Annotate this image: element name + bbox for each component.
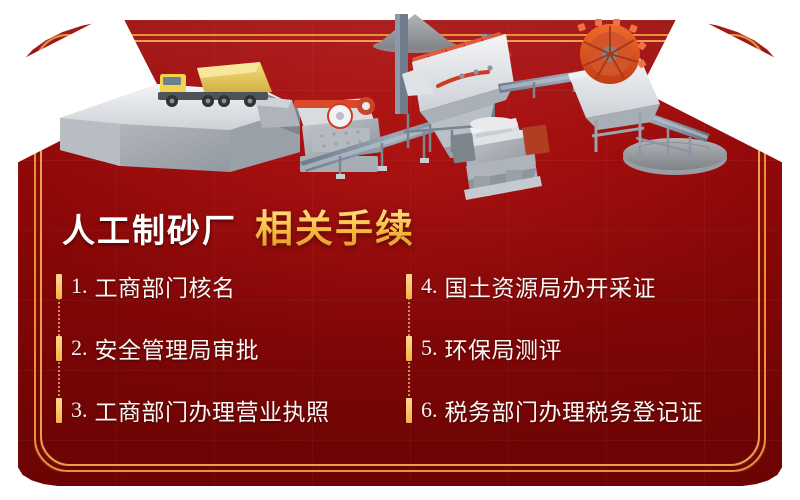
list-item-label: 国土资源局办开采证 [445,269,657,303]
procedure-column-left: 1. 工商部门核名 2. 安全管理局审批 3. 工商部门办理营业执照 [56,272,406,442]
list-item[interactable]: 1. 工商部门核名 [56,272,406,300]
procedure-list: 1. 工商部门核名 2. 安全管理局审批 3. 工商部门办理营业执照 4. 国土… [56,272,756,442]
accent-bar-icon [406,336,412,361]
accent-bar-icon [406,398,412,423]
list-item[interactable]: 2. 安全管理局审批 [56,334,406,362]
accent-bar-icon [56,398,62,423]
title-white-part: 人工制砂厂 [62,204,237,252]
list-item[interactable]: 3. 工商部门办理营业执照 [56,396,406,424]
procedure-column-right: 4. 国土资源局办开采证 5. 环保局测评 6. 税务部门办理税务登记证 [406,272,756,442]
list-item-label: 工商部门核名 [95,269,236,303]
accent-bar-icon [56,336,62,361]
list-item-label: 税务部门办理税务登记证 [445,393,704,427]
title-gold-part: 相关手续 [255,198,415,253]
list-item-label: 工商部门办理营业执照 [95,393,330,427]
list-item[interactable]: 5. 环保局测评 [406,334,756,362]
poster-title: 人工制砂厂 相关手续 [62,198,415,253]
list-item-label: 环保局测评 [445,331,563,365]
list-item-number: 1. [71,273,88,299]
poster-root: 人工制砂厂 相关手续 1. 工商部门核名 2. 安全管理局审批 3. 工商部门办… [0,0,800,500]
list-item[interactable]: 4. 国土资源局办开采证 [406,272,756,300]
accent-bar-icon [406,274,412,299]
list-item-label: 安全管理局审批 [95,331,260,365]
list-item[interactable]: 6. 税务部门办理税务登记证 [406,396,756,424]
accent-bar-icon [56,274,62,299]
list-item-number: 2. [71,335,88,361]
list-item-number: 3. [71,397,88,423]
list-item-number: 4. [421,273,438,299]
list-item-number: 5. [421,335,438,361]
list-item-number: 6. [421,397,438,423]
